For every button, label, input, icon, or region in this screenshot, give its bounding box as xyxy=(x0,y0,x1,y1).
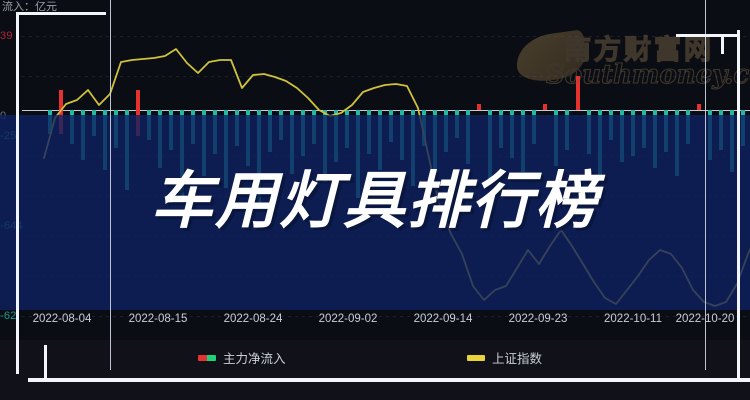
frame-line xyxy=(44,345,47,381)
x-tick-label: 2022-10-11 xyxy=(604,313,662,325)
x-tick-label: 2022-08-04 xyxy=(33,313,92,325)
x-tick-label: 2022-09-14 xyxy=(414,313,473,325)
frame-corner-bottom-left xyxy=(10,345,90,393)
page-title: 车用灯具排行榜 xyxy=(0,165,750,237)
frame-line xyxy=(676,34,740,37)
legend-item-sse-index[interactable]: 上证指数 xyxy=(467,348,542,367)
frame-bar-bottom xyxy=(28,378,750,382)
legend-swatch-icon xyxy=(467,355,485,361)
x-tick-label: 2022-10-20 xyxy=(676,313,735,325)
chart-legend: 主力净流入 上证指数 xyxy=(0,348,750,370)
legend-label: 上证指数 xyxy=(492,348,542,367)
frame-line xyxy=(721,34,724,54)
frame-corner-top-right xyxy=(676,10,740,54)
y-tick-label: 39 xyxy=(0,30,13,42)
x-tick-label: 2022-08-15 xyxy=(129,313,188,325)
screenshot-root: 流入：亿元 390-25-644-62 车用灯具排行榜 南方财富网 Southm… xyxy=(0,0,750,400)
legend-item-main-net-inflow[interactable]: 主力净流入 xyxy=(198,348,286,367)
watermark-domain: Southmoney.com xyxy=(546,60,750,90)
x-tick-label: 2022-09-02 xyxy=(319,313,378,325)
x-tick-label: 2022-08-24 xyxy=(224,313,283,325)
legend-swatch-icon xyxy=(198,355,216,361)
frame-bar-top-left xyxy=(16,12,106,15)
x-axis-ticks: 2022-08-042022-08-152022-08-242022-09-02… xyxy=(0,313,750,337)
legend-label: 主力净流入 xyxy=(223,348,286,367)
x-tick-label: 2022-09-23 xyxy=(509,313,568,325)
frame-bar-left xyxy=(16,12,19,374)
frame-bar-right xyxy=(737,30,740,378)
